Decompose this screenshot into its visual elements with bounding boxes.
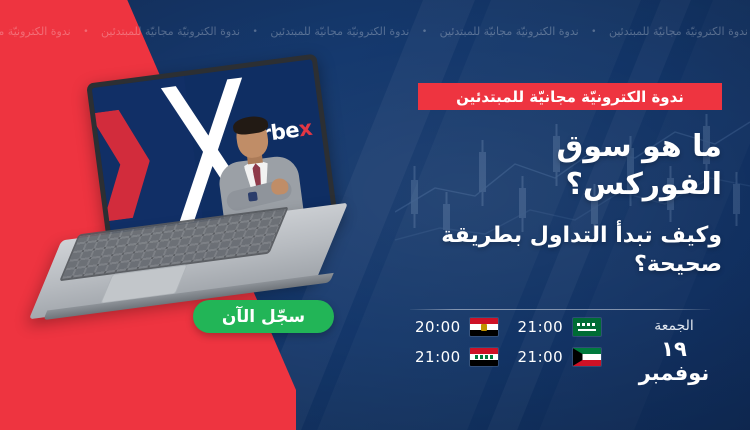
timezone-time: 21:00: [518, 318, 565, 336]
iraq-flag-icon: [470, 348, 498, 366]
event-day-month: ١٩ نوفمبر: [628, 337, 720, 385]
register-now-label: سجّل الآن: [222, 307, 305, 327]
webinar-banner: ندوة الكترونيّة مجانيّة للمبتدئين • ندوة…: [0, 0, 750, 430]
timezone-item-egypt: 20:00: [415, 318, 518, 336]
presenter-watch: [247, 192, 257, 202]
egypt-flag-icon: [470, 318, 498, 336]
event-weekday: الجمعة: [628, 318, 720, 334]
kuwait-flag-icon: [573, 348, 601, 366]
saudi-arabia-flag-icon: [573, 318, 601, 336]
register-now-button[interactable]: سجّل الآن: [193, 300, 334, 333]
timezone-list: 20:00 21:00 21:00 21: [415, 318, 620, 366]
laptop-mockup: orbex: [44, 68, 334, 328]
timezone-time: 21:00: [415, 348, 462, 366]
free-webinar-badge: ندوة الكترونيّة مجانيّة للمبتدئين: [418, 83, 722, 110]
event-date: الجمعة ١٩ نوفمبر: [628, 318, 720, 385]
laptop-base: [44, 214, 333, 306]
timezone-item-saudi-arabia: 21:00: [518, 318, 621, 336]
timezone-item-iraq: 21:00: [415, 348, 518, 366]
headline-block: ما هو سوق الفوركس؟ وكيف تبدأ التداول بطر…: [400, 128, 722, 280]
timezone-time: 21:00: [518, 348, 565, 366]
free-webinar-badge-label: ندوة الكترونيّة مجانيّة للمبتدئين: [456, 88, 684, 106]
timezone-time: 20:00: [415, 318, 462, 336]
headline-line-1: ما هو سوق الفوركس؟: [400, 128, 722, 205]
timezone-item-kuwait: 21:00: [518, 348, 621, 366]
section-divider: [410, 309, 710, 310]
headline-line-2: وكيف تبدأ التداول بطريقة صحيحة؟: [400, 221, 722, 280]
